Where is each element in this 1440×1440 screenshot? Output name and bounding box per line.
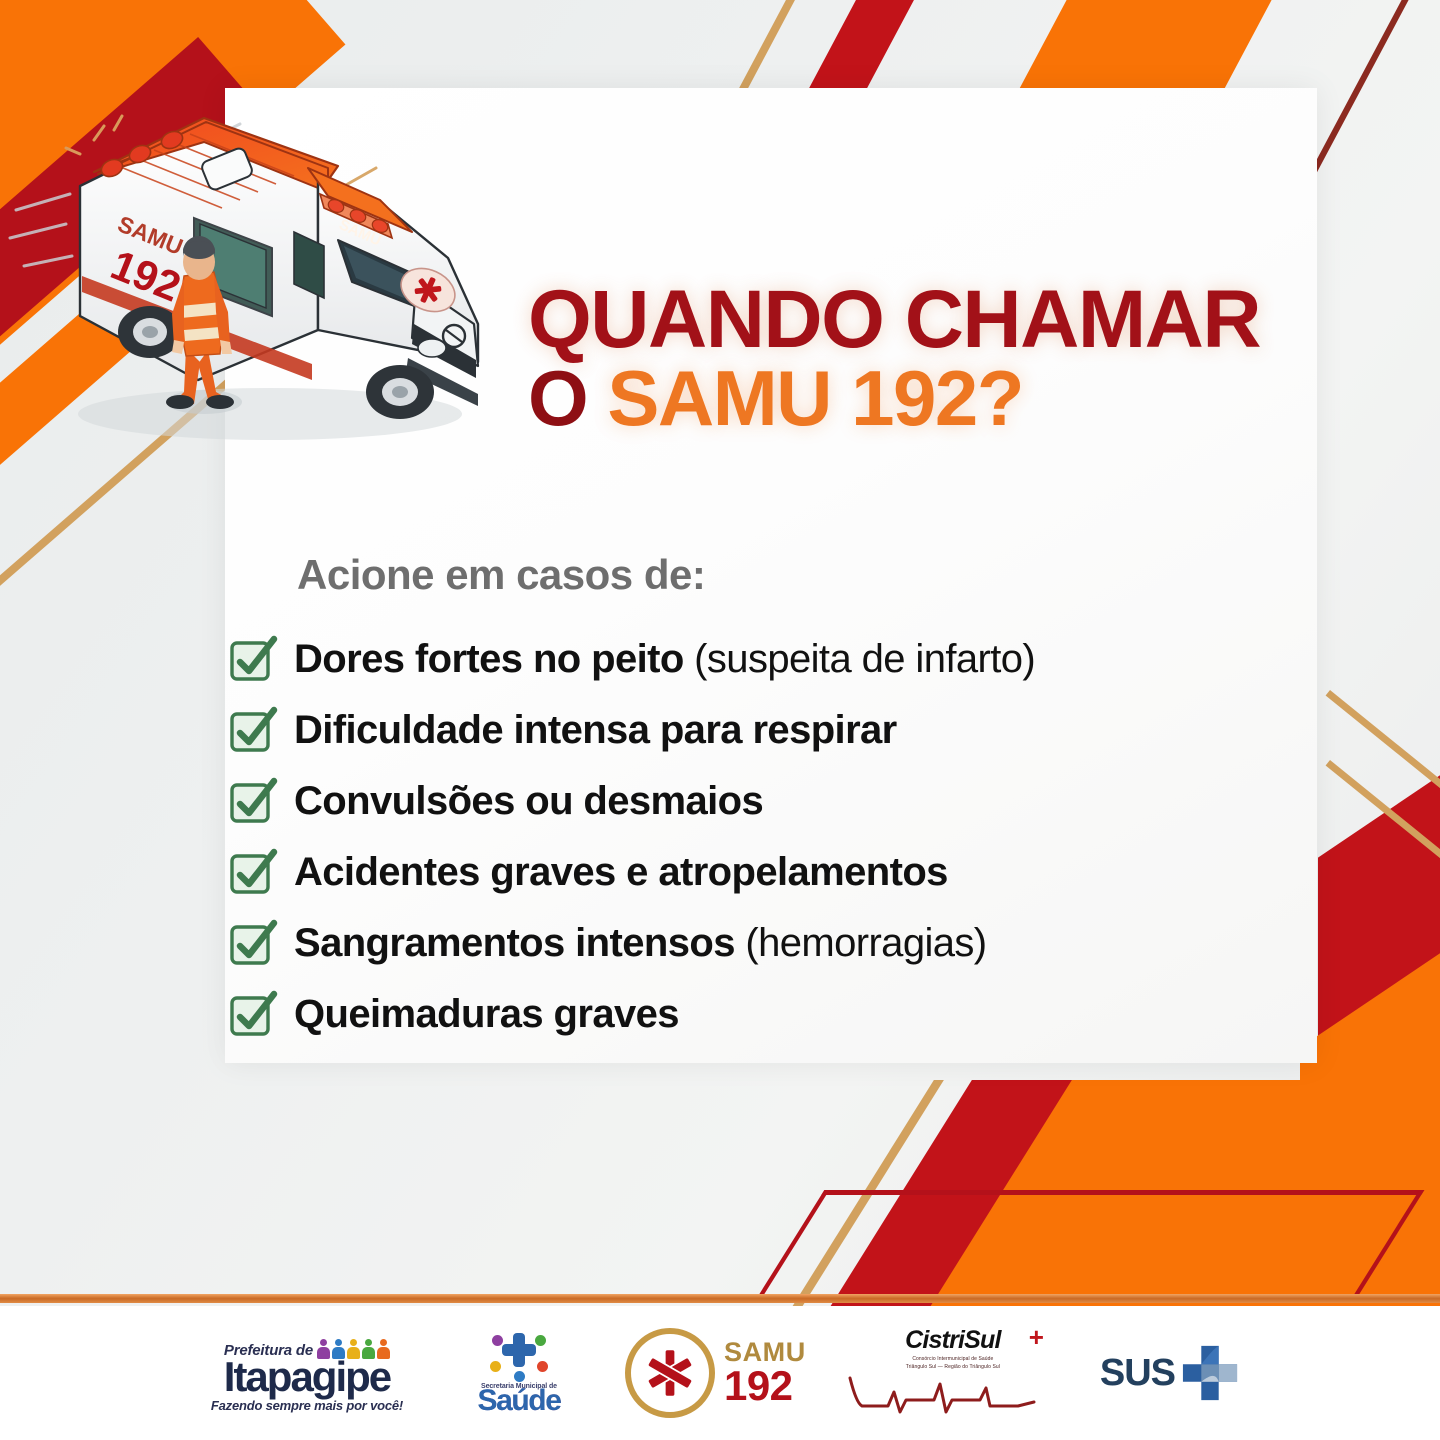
headline-line-2: O SAMU 192? [528, 363, 1328, 435]
people-group-icon [317, 1339, 390, 1359]
list-item: Dores fortes no peito (suspeita de infar… [228, 624, 1288, 694]
list-item-strong: Queimaduras graves [294, 992, 679, 1036]
itapagipe-title: Itapagipe [201, 1357, 413, 1397]
decor-line-right-gold-b [1326, 760, 1440, 872]
samu-number: 192 [724, 1366, 806, 1406]
list-item-normal: (hemorragias) [735, 921, 987, 965]
list-item-text: Acidentes graves e atropelamentos [294, 850, 948, 895]
list-item-normal: (suspeita de infarto) [684, 637, 1035, 681]
decor-outline-bottom-right [756, 1190, 1425, 1300]
saude-dot [537, 1361, 548, 1372]
saude-title: Saúde [455, 1386, 583, 1416]
saude-dot [490, 1361, 501, 1372]
symptom-checklist: Dores fortes no peito (suspeita de infar… [228, 624, 1288, 1050]
checkbox-checked-icon [228, 634, 278, 684]
itapagipe-slogan: Fazendo sempre mais por você! [201, 1398, 413, 1413]
checklist-subtitle: Acione em casos de: [297, 551, 705, 599]
decor-band-right-red [1318, 702, 1440, 1067]
footer-logo-row: Prefeitura de Itapagipe Fazendo sempre m… [0, 1306, 1440, 1440]
checkbox-checked-icon [228, 918, 278, 968]
person-icon [332, 1339, 345, 1359]
list-item-strong: Dificuldade intensa para respirar [294, 708, 897, 752]
list-item: Sangramentos intensos (hemorragias) [228, 908, 1288, 978]
cistrisul-logo: CistriSul + Consórcio Intermunicipal de … [848, 1326, 1058, 1421]
checkbox-checked-icon [228, 776, 278, 826]
decor-band-right-orange [1300, 872, 1440, 1367]
sus-title: SUS [1100, 1352, 1175, 1395]
decor-band-bottom-right-gold [790, 1080, 944, 1310]
cistrisul-plus-icon: + [1029, 1322, 1044, 1353]
poster-root: SAMU 192 SAMU [0, 0, 1440, 1440]
list-item-strong: Sangramentos intensos [294, 921, 735, 965]
decor-band-bottom-right-red [828, 1080, 1132, 1310]
person-icon [377, 1339, 390, 1359]
sus-cross-icon [1181, 1344, 1239, 1402]
list-item: Acidentes graves e atropelamentos [228, 837, 1288, 907]
list-item: Queimaduras graves [228, 979, 1288, 1049]
list-item: Dificuldade intensa para respirar [228, 695, 1288, 765]
headline-line-1: QUANDO CHAMAR [528, 282, 1328, 357]
cistrisul-title: CistriSul [848, 1326, 1058, 1355]
cistrisul-subtitle-2: Triângulo Sul — Região do Triângulo Sul [848, 1364, 1058, 1372]
cistrisul-subtitle-1: Consórcio Intermunicipal de Saúde [848, 1356, 1058, 1364]
list-item-strong: Convulsões ou desmaios [294, 779, 763, 823]
saude-dot [514, 1371, 525, 1382]
prefeitura-itapagipe-logo: Prefeitura de Itapagipe Fazendo sempre m… [201, 1333, 413, 1413]
person-icon [317, 1339, 330, 1359]
checkbox-checked-icon [228, 705, 278, 755]
checkbox-checked-icon [228, 989, 278, 1039]
person-icon [347, 1339, 360, 1359]
headline-block: QUANDO CHAMAR O SAMU 192? [528, 282, 1328, 435]
decor-line-right-gold-a [1326, 690, 1440, 802]
list-item-text: Dificuldade intensa para respirar [294, 708, 897, 753]
list-item-strong: Dores fortes no peito [294, 637, 684, 681]
samu-text-block: SAMU 192 [724, 1340, 806, 1406]
samu-ambulance-illustration: SAMU 192 SAMU [8, 62, 518, 462]
secretaria-municipal-saude-logo: Secretaria Municipal de Saúde [455, 1331, 583, 1416]
samu-192-logo: SAMU 192 [625, 1328, 806, 1418]
list-item-strong: Acidentes graves e atropelamentos [294, 850, 948, 894]
ecg-line-icon [848, 1372, 1048, 1416]
headline-line-2-accent: SAMU 192? [607, 354, 1023, 442]
saude-cross-icon [490, 1331, 548, 1383]
person-icon [362, 1339, 375, 1359]
list-item: Convulsões ou desmaios [228, 766, 1288, 836]
saude-dot [535, 1335, 546, 1346]
list-item-text: Sangramentos intensos (hemorragias) [294, 921, 987, 966]
list-item-text: Dores fortes no peito (suspeita de infar… [294, 637, 1035, 682]
sus-logo: SUS [1100, 1344, 1239, 1402]
checkbox-checked-icon [228, 847, 278, 897]
list-item-text: Queimaduras graves [294, 992, 679, 1037]
decor-footer-rule [0, 1294, 1440, 1303]
list-item-text: Convulsões ou desmaios [294, 779, 763, 824]
star-of-life-icon [625, 1328, 715, 1418]
headline-line-2-prefix: O [528, 354, 607, 442]
decor-band-bottom-right-orange [928, 1080, 1440, 1310]
